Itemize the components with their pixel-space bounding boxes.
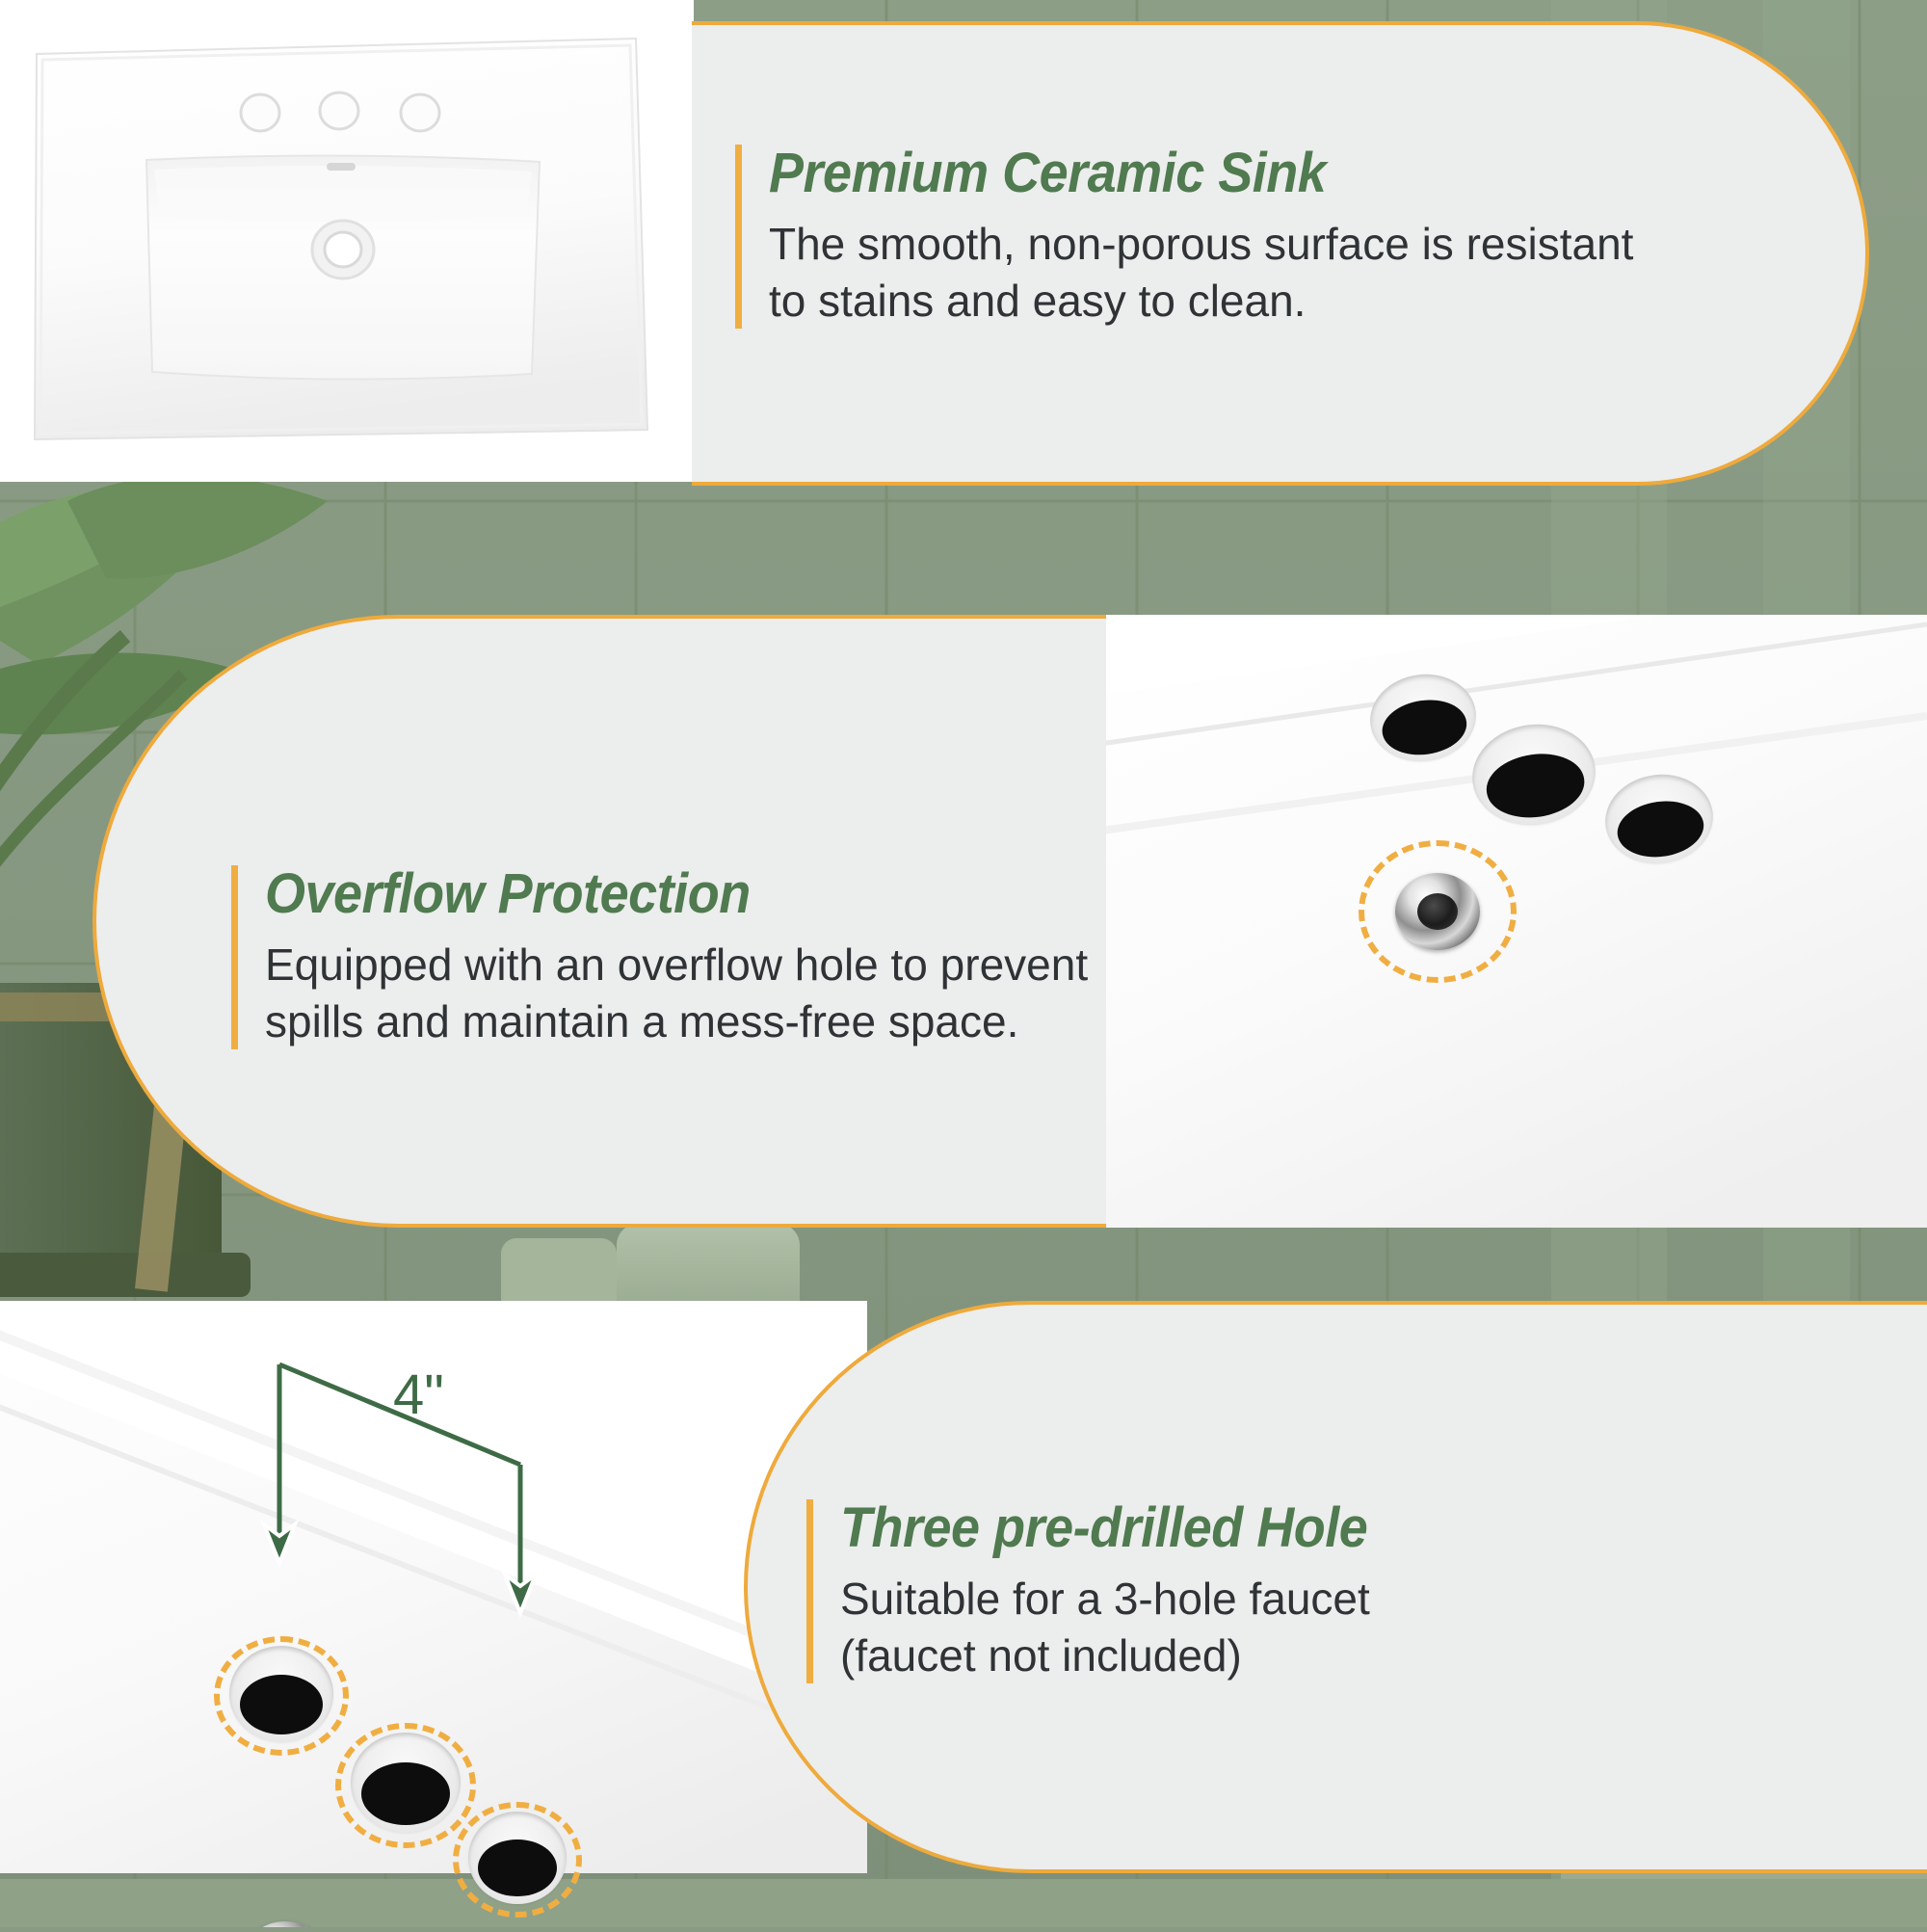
faucet-hole-left [229, 1646, 333, 1742]
text-block-overflow-protection: Overflow Protection Equipped with an ove… [231, 865, 1088, 1049]
dimension-label-4in: 4" [393, 1363, 444, 1427]
faucet-hole-right [468, 1812, 567, 1904]
panel-row-2: Overflow Protection Equipped with an ove… [0, 582, 1927, 1257]
panel-overflow-protection: Overflow Protection Equipped with an ove… [92, 615, 1106, 1228]
sink-top-view-photo [0, 0, 694, 482]
panel-body: Equipped with an overflow hole to preven… [265, 937, 1088, 1049]
panel-premium-ceramic-sink: Premium Ceramic Sink The smooth, non-por… [692, 21, 1869, 486]
text-block-three-pre-drilled-hole: Three pre-drilled Hole Suitable for a 3-… [806, 1499, 1407, 1683]
panel-body: Suitable for a 3-hole faucet (faucet not… [840, 1571, 1407, 1683]
overflow-hole-chrome-ring [241, 1921, 330, 1927]
text-block-premium-ceramic-sink: Premium Ceramic Sink The smooth, non-por… [735, 145, 1633, 329]
panel-row-1: Premium Ceramic Sink The smooth, non-por… [0, 0, 1927, 582]
panel-title: Overflow Protection [265, 865, 1030, 923]
faucet-hole-center [351, 1733, 461, 1833]
panel-title: Premium Ceramic Sink [769, 145, 1573, 202]
panel-title: Three pre-drilled Hole [840, 1499, 1367, 1557]
panel-three-pre-drilled-hole: Three pre-drilled Hole Suitable for a 3-… [744, 1301, 1927, 1873]
panel-body: The smooth, non-porous surface is resist… [769, 216, 1633, 329]
overflow-hole-chrome-ring [1395, 873, 1480, 950]
panel-row-3: 4" Three pre-drilled Hole Suitable for a… [0, 1257, 1927, 1927]
